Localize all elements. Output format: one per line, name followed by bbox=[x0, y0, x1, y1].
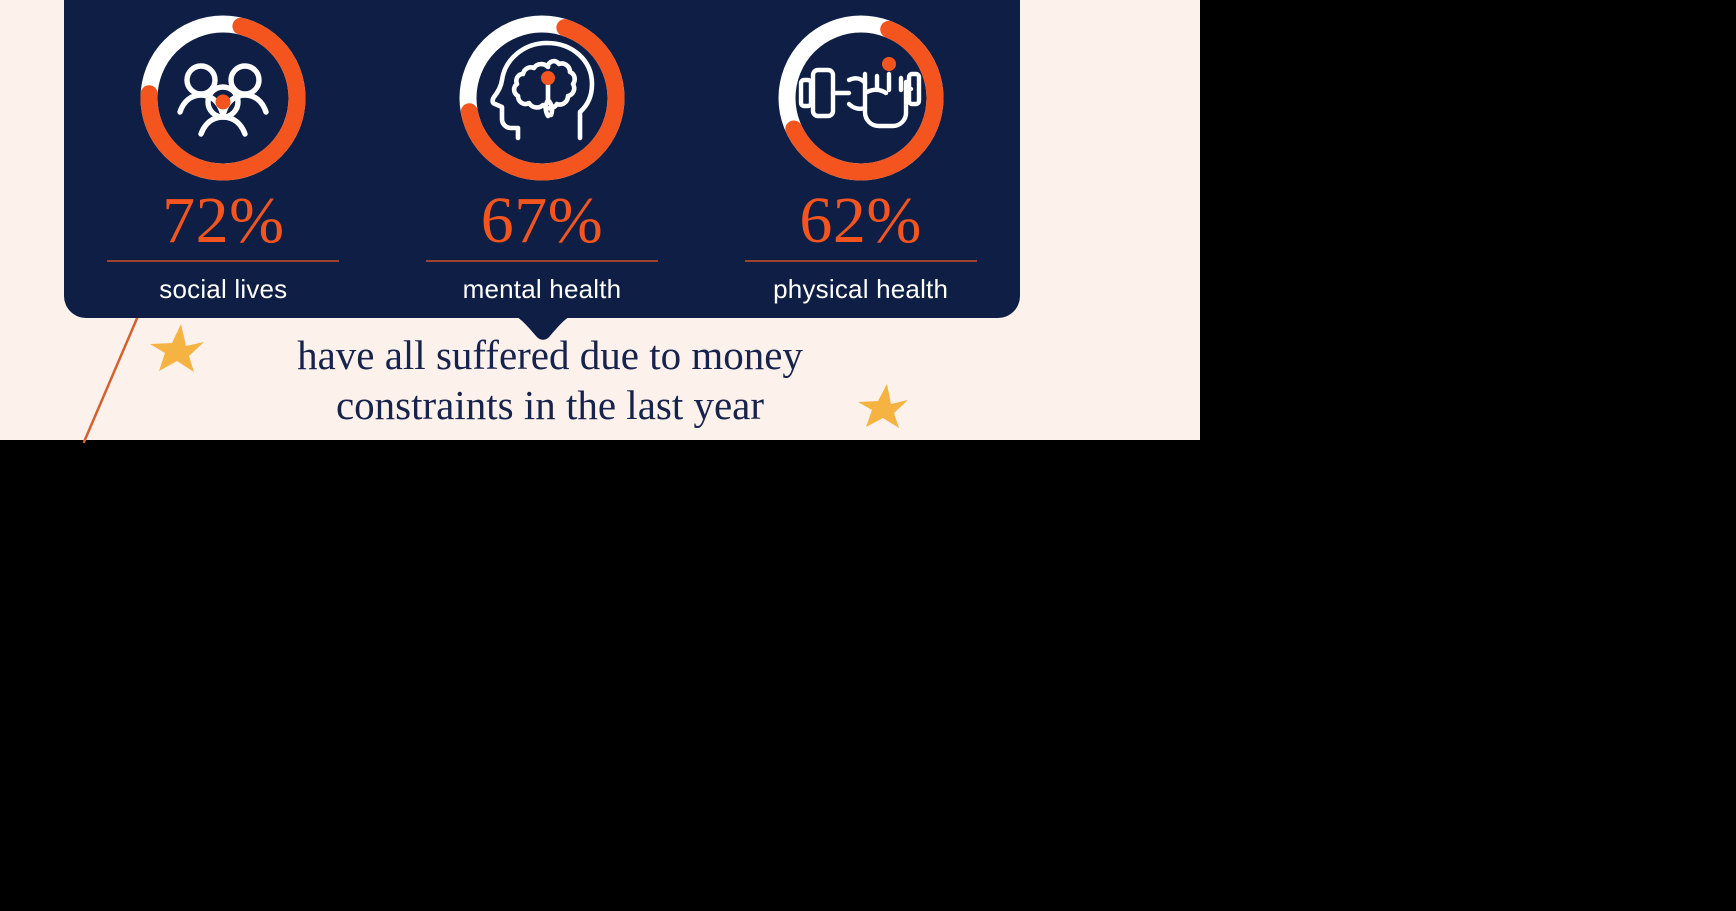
stat-label: social lives bbox=[159, 274, 287, 304]
stat-item-physical-health[interactable]: 62% physical health bbox=[718, 8, 1004, 304]
stat-divider bbox=[107, 260, 339, 262]
caption-line-2: constraints in the last year bbox=[180, 380, 920, 430]
brain-center-dot bbox=[541, 71, 555, 85]
stat-item-social-lives[interactable]: 72% social lives bbox=[80, 8, 366, 304]
people-center-dot bbox=[216, 95, 231, 110]
donut-chart-social-lives bbox=[133, 8, 313, 188]
stat-row: 72% social lives bbox=[64, 0, 1020, 318]
stat-label: physical health bbox=[773, 274, 948, 304]
donut-chart-mental-health bbox=[452, 8, 632, 188]
fist-dumbbell-icon bbox=[801, 70, 919, 126]
content-panel: 72% social lives bbox=[0, 0, 1200, 440]
stat-divider bbox=[745, 260, 977, 262]
stat-card: 72% social lives bbox=[64, 0, 1020, 318]
stat-value: 72% bbox=[162, 186, 284, 256]
donut-chart-physical-health bbox=[771, 8, 951, 188]
stat-value: 62% bbox=[799, 186, 921, 256]
stat-divider bbox=[426, 260, 658, 262]
diagonal-accent-line bbox=[60, 310, 160, 445]
stat-item-mental-health[interactable]: 67% mental health bbox=[399, 8, 685, 304]
stat-label: mental health bbox=[463, 274, 622, 304]
caption-line-1: have all suffered due to money bbox=[180, 330, 920, 380]
stat-value: 67% bbox=[481, 186, 603, 256]
caption: have all suffered due to money constrain… bbox=[180, 330, 920, 430]
screen-canvas: 72% social lives bbox=[0, 0, 1736, 911]
fitness-accent-dot bbox=[882, 57, 896, 71]
head-brain-icon bbox=[493, 43, 592, 138]
